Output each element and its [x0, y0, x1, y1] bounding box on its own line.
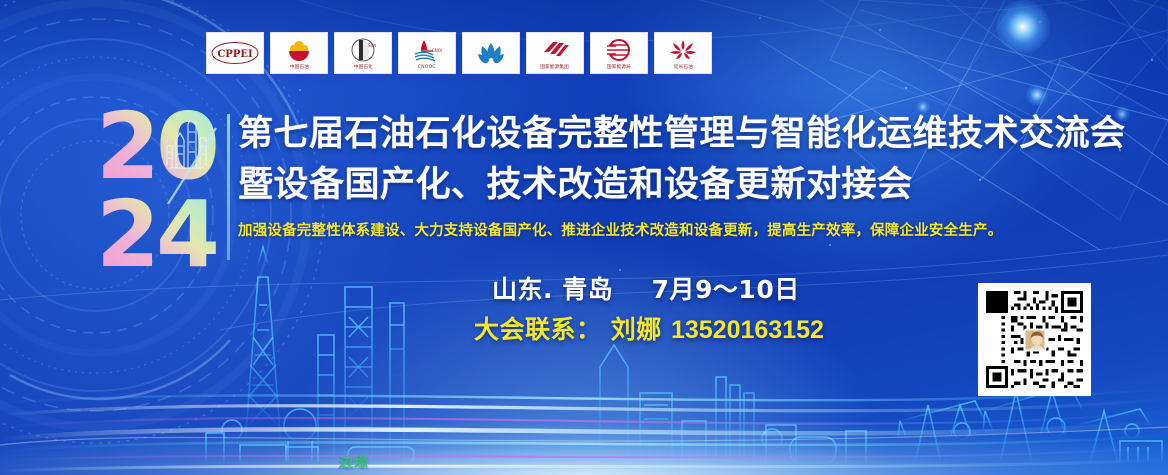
edge-watermark-text: 边缘	[339, 452, 369, 472]
cnpc-sun-icon	[286, 37, 312, 63]
sponsor-logo-sinopec[interactable]: SINOPEC 中国石化	[334, 32, 392, 74]
contact-label: 大会联系：	[474, 315, 602, 344]
sponsor-logo-caption: 国家能源集团	[541, 64, 570, 70]
sponsor-logo-energy-group[interactable]: 国家能源集团	[526, 32, 584, 74]
sponsor-logo-chemchina[interactable]	[462, 32, 520, 74]
sponsor-logo-cnpc[interactable]: 中国石油	[270, 32, 328, 74]
sponsor-logo-caption: 国家能源局	[607, 64, 631, 70]
glow-node-small	[1026, 84, 1048, 106]
subtitle-slogan: 加强设备完整性体系建设、大力支持设备国产化、推进企业技术改造和设备更新，提高生产…	[238, 221, 1158, 241]
conference-banner: CPPEI 中国石油	[0, 0, 1168, 475]
venue-dates: 7月9～10日	[652, 275, 800, 304]
venue-location: 山东. 青岛	[492, 275, 613, 304]
svg-text:SINOPEC: SINOPEC	[368, 43, 376, 48]
sponsor-logo-strip: CPPEI 中国石油	[206, 32, 712, 74]
sponsor-logo-state-grid[interactable]: 国家能源局	[590, 32, 648, 74]
qr-center-avatar	[1023, 328, 1046, 351]
contact-phone: 13520163152	[671, 316, 824, 344]
cppei-icon: CPPEI	[210, 40, 260, 66]
svg-text:CPPEI: CPPEI	[217, 49, 253, 60]
year-2024-graphic: 20 24	[72, 100, 237, 275]
sponsor-logo-caption: 延长石油	[673, 64, 692, 70]
sponsor-logo-yanchang[interactable]: 延长石油	[654, 32, 712, 74]
globe-grid-icon	[606, 37, 632, 63]
sponsor-logo-caption: 中国石化	[353, 64, 372, 70]
svg-text:CNOOC: CNOOC	[432, 48, 442, 53]
qr-code-block[interactable]	[978, 283, 1091, 396]
title-line-2: 暨设备国产化、技术改造和设备更新对接会	[238, 163, 1158, 207]
yanchang-bloom-icon	[669, 37, 697, 63]
venue-and-date: 山东. 青岛 7月9～10日	[492, 270, 800, 306]
title-divider-bar	[227, 114, 230, 260]
headline-block: 第七届石油石化设备完整性管理与智能化运维技术交流会 暨设备国产化、技术改造和设备…	[238, 112, 1158, 241]
qr-code-image	[983, 288, 1086, 391]
contact-name: 刘娜	[611, 315, 662, 344]
sponsor-logo-caption: 中国石油	[289, 64, 308, 70]
sponsor-logo-cppei[interactable]: CPPEI	[206, 32, 264, 74]
title-line-1: 第七届石油石化设备完整性管理与智能化运维技术交流会	[238, 112, 1158, 156]
sinopec-pillar-icon: SINOPEC	[350, 37, 376, 63]
chemchina-petals-icon	[476, 40, 506, 66]
svg-text:24: 24	[96, 181, 216, 275]
sponsor-logo-cnooc[interactable]: CNOOC CNOOC	[398, 32, 456, 74]
contact-line: 大会联系： 刘娜 13520163152	[474, 310, 824, 346]
cnooc-wave-icon: CNOOC	[412, 37, 442, 63]
glow-node-main	[996, 0, 1050, 54]
sponsor-logo-caption: CNOOC	[418, 64, 436, 70]
energy-group-arrows-icon	[540, 37, 570, 63]
